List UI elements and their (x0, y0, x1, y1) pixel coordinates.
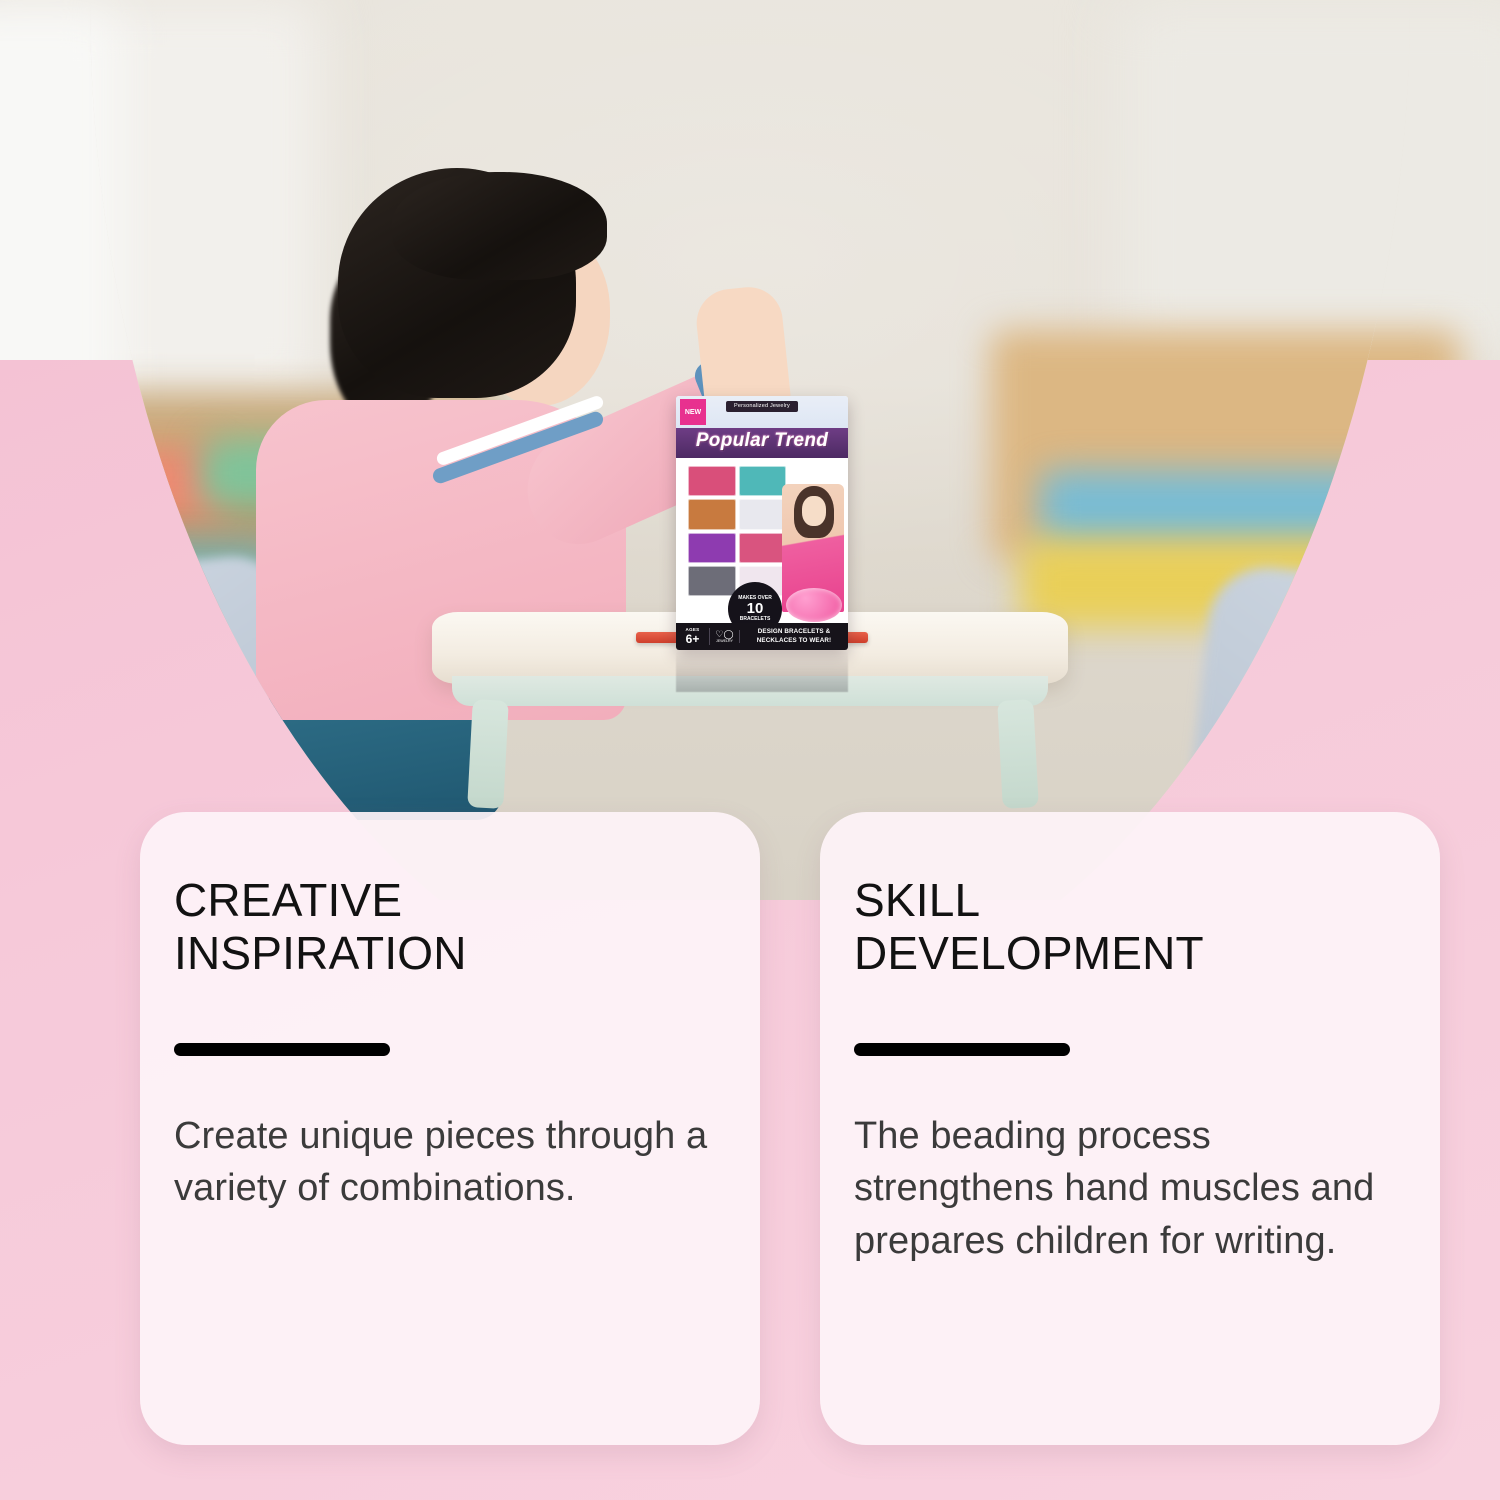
card-divider-rule (854, 1043, 1070, 1056)
box-reflection (676, 650, 848, 692)
table-leg-right (997, 699, 1039, 809)
badge-line-2: 10 (747, 601, 764, 617)
bead-cell (688, 499, 736, 529)
new-badge: NEW (680, 399, 706, 425)
bead-cell (739, 533, 787, 563)
bead-tray (688, 466, 786, 596)
badge-line-3: BRACELETS (740, 617, 771, 622)
jewelry-icon-label: JEWELRY (710, 640, 739, 644)
pink-logo-oval (786, 588, 842, 622)
table-leg-left (467, 699, 509, 809)
bead-cell (688, 466, 736, 496)
product-title: Popular Trend (676, 430, 848, 452)
card-title: CREATIVE INSPIRATION (174, 874, 720, 981)
product-package: NEW Personalized Jewelry Popular Trend (676, 396, 848, 650)
bead-cell (739, 499, 787, 529)
product-feature-image: NEW Personalized Jewelry Popular Trend (0, 0, 1500, 1500)
bead-cell (688, 533, 736, 563)
bead-cell (688, 566, 736, 596)
model-face (802, 496, 826, 526)
card-title: SKILL DEVELOPMENT (854, 874, 1400, 981)
ages-value: 6+ (676, 633, 709, 645)
package-tagline: DESIGN BRACELETS & NECKLACES TO WEAR! (740, 628, 848, 645)
brand-tag: Personalized Jewelry (726, 401, 798, 412)
card-divider-rule (174, 1043, 390, 1056)
bead-cell (739, 466, 787, 496)
feature-card-skill-development: SKILL DEVELOPMENT The beading process st… (820, 812, 1440, 1445)
card-body: The beading process strengthens hand mus… (854, 1110, 1400, 1267)
jewelry-icon: ♡◯ JEWELRY (710, 630, 740, 644)
package-footer: AGES 6+ ♡◯ JEWELRY DESIGN BRACELETS & NE… (676, 623, 848, 650)
child-left-bangs (392, 172, 607, 280)
package-header: NEW Personalized Jewelry (676, 396, 848, 430)
card-body: Create unique pieces through a variety o… (174, 1110, 720, 1215)
ages-block: AGES 6+ (676, 628, 710, 645)
feature-card-creative-inspiration: CREATIVE INSPIRATION Create unique piece… (140, 812, 760, 1445)
